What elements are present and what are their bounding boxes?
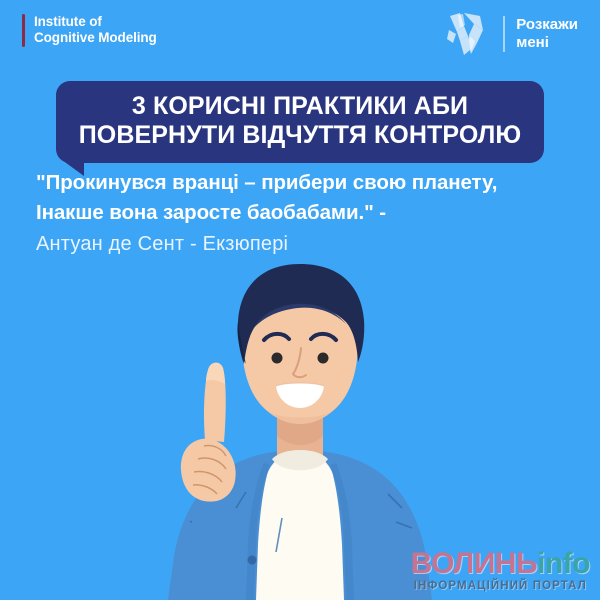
quote-line-1: "Прокинувся вранці – прибери свою планет… bbox=[36, 168, 576, 198]
headline-speech-bubble: 3 КОРИСНІ ПРАКТИКИ АБИ ПОВЕРНУТИ ВІДЧУТТ… bbox=[56, 81, 544, 163]
abstract-tooth-icon bbox=[440, 10, 492, 58]
watermark-title-part-b: info bbox=[537, 547, 590, 580]
logo-divider bbox=[503, 16, 505, 52]
headline-line-2: ПОВЕРНУТИ ВІДЧУТТЯ КОНТРОЛЮ bbox=[72, 121, 528, 150]
eye-right bbox=[318, 353, 329, 364]
jacket-button bbox=[248, 556, 257, 565]
quote-block: "Прокинувся вранці – прибери свою планет… bbox=[36, 168, 576, 259]
eye-left bbox=[272, 353, 283, 364]
institute-logo-text: Institute of Cognitive Modeling bbox=[34, 14, 157, 47]
watermark-title: ВОЛИНЬinfo bbox=[411, 549, 590, 579]
quote-author: Антуан де Сент - Екзюпері bbox=[36, 229, 576, 259]
watermark-title-part-a: ВОЛИНЬ bbox=[411, 547, 537, 580]
pointing-hand bbox=[181, 363, 236, 502]
headline-bubble-wrapper: 3 КОРИСНІ ПРАКТИКИ АБИ ПОВЕРНУТИ ВІДЧУТТ… bbox=[56, 81, 544, 163]
rozkazhy-meni-label: Розкажи мені bbox=[516, 16, 578, 51]
volyn-info-watermark[interactable]: ВОЛИНЬinfo ІНФОРМАЦІЙНИЙ ПОРТАЛ bbox=[411, 549, 590, 593]
headline-line-1: 3 КОРИСНІ ПРАКТИКИ АБИ bbox=[72, 92, 528, 121]
institute-logo-accent-bar bbox=[22, 14, 25, 47]
infographic-card: Institute of Cognitive Modeling Розкажи … bbox=[0, 0, 600, 600]
quote-line-2: Інакше вона заросте баобабами." - bbox=[36, 198, 576, 228]
institute-logo[interactable]: Institute of Cognitive Modeling bbox=[22, 14, 157, 47]
watermark-subtitle: ІНФОРМАЦІЙНИЙ ПОРТАЛ bbox=[411, 581, 590, 593]
rozkazhy-meni-logo[interactable]: Розкажи мені bbox=[440, 10, 578, 58]
tshirt bbox=[254, 452, 346, 600]
